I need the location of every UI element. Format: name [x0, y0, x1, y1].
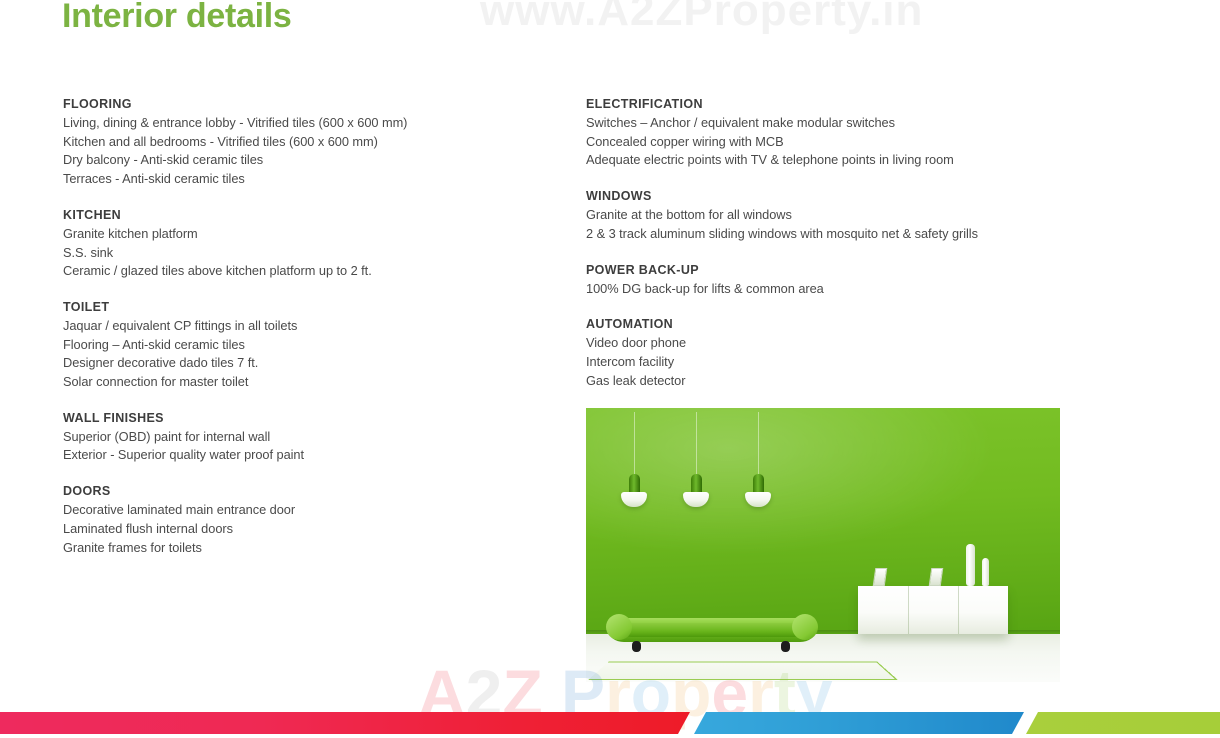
spec-line: Granite at the bottom for all windows	[586, 206, 1106, 225]
spec-line: Granite frames for toilets	[63, 539, 563, 558]
sideboard-icon	[858, 586, 1008, 634]
spec-section: AUTOMATIONVideo door phoneIntercom facil…	[586, 316, 1106, 390]
spec-heading: WINDOWS	[586, 188, 1106, 205]
spec-line: Video door phone	[586, 334, 1106, 353]
spec-heading: ELECTRIFICATION	[586, 96, 1106, 113]
lamp-neck	[753, 474, 764, 494]
picture-frame-icon	[873, 568, 888, 586]
spec-line: 2 & 3 track aluminum sliding windows wit…	[586, 225, 1106, 244]
sideboard-divider	[908, 586, 909, 634]
spec-heading: FLOORING	[63, 96, 563, 113]
sofa-wheel-right	[781, 641, 790, 652]
spec-line: Switches – Anchor / equivalent make modu…	[586, 114, 1106, 133]
spec-section: POWER BACK-UP100% DG back-up for lifts &…	[586, 262, 1106, 299]
spec-heading: DOORS	[63, 483, 563, 500]
brochure-page: www.A2ZProperty.in Interior details FLOO…	[0, 0, 1220, 738]
lamp-neck	[691, 474, 702, 494]
spec-line: Solar connection for master toilet	[63, 373, 563, 392]
page-title: Interior details	[62, 0, 291, 36]
sofa-wheel-left	[632, 641, 641, 652]
spec-line: Exterior - Superior quality water proof …	[63, 446, 563, 465]
vase-short-icon	[982, 558, 989, 586]
lamp-neck	[629, 474, 640, 494]
interior-photo	[586, 408, 1060, 682]
spec-section: WINDOWSGranite at the bottom for all win…	[586, 188, 1106, 243]
spec-line: 100% DG back-up for lifts & common area	[586, 280, 1106, 299]
spec-section: ELECTRIFICATIONSwitches – Anchor / equiv…	[586, 96, 1106, 170]
spec-line: Adequate electric points with TV & telep…	[586, 151, 1106, 170]
spec-line: Living, dining & entrance lobby - Vitrif…	[63, 114, 563, 133]
sofa-seat	[622, 623, 804, 637]
bar-segment-blue	[694, 712, 1024, 734]
spec-section: WALL FINISHESSuperior (OBD) paint for in…	[63, 410, 563, 465]
bar-segment-green	[1026, 712, 1220, 734]
spec-heading: TOILET	[63, 299, 563, 316]
spec-heading: AUTOMATION	[586, 316, 1106, 333]
spec-line: Intercom facility	[586, 353, 1106, 372]
spec-line: Dry balcony - Anti-skid ceramic tiles	[63, 151, 563, 170]
spec-line: Superior (OBD) paint for internal wall	[63, 428, 563, 447]
spec-line: Kitchen and all bedrooms - Vitrified til…	[63, 133, 563, 152]
spec-heading: KITCHEN	[63, 207, 563, 224]
spec-line: Ceramic / glazed tiles above kitchen pla…	[63, 262, 563, 281]
picture-frame-icon	[929, 568, 944, 586]
specs-column-left: FLOORINGLiving, dining & entrance lobby …	[63, 96, 563, 557]
lamp-cord	[696, 412, 697, 474]
spec-line: S.S. sink	[63, 244, 563, 263]
sofa-arm-left	[606, 614, 632, 640]
spec-line: Concealed copper wiring with MCB	[586, 133, 1106, 152]
spec-section: FLOORINGLiving, dining & entrance lobby …	[63, 96, 563, 189]
spec-line: Gas leak detector	[586, 372, 1106, 391]
sideboard-divider	[958, 586, 959, 634]
spec-heading: WALL FINISHES	[63, 410, 563, 427]
lamp-cord	[758, 412, 759, 474]
spec-line: Jaquar / equivalent CP fittings in all t…	[63, 317, 563, 336]
spec-line: Decorative laminated main entrance door	[63, 501, 563, 520]
spec-line: Granite kitchen platform	[63, 225, 563, 244]
spec-section: DOORSDecorative laminated main entrance …	[63, 483, 563, 557]
bar-segment-pink	[0, 712, 690, 734]
spec-line: Terraces - Anti-skid ceramic tiles	[63, 170, 563, 189]
spec-section: TOILETJaquar / equivalent CP fittings in…	[63, 299, 563, 392]
watermark-top: www.A2ZProperty.in	[480, 0, 923, 36]
bottom-color-bar	[0, 712, 1220, 734]
spec-line: Laminated flush internal doors	[63, 520, 563, 539]
spec-heading: POWER BACK-UP	[586, 262, 1106, 279]
sofa-arm-right	[792, 614, 818, 640]
lamp-cord	[634, 412, 635, 474]
sofa-icon	[608, 614, 816, 644]
vase-tall-icon	[966, 544, 975, 586]
spec-line: Flooring – Anti-skid ceramic tiles	[63, 336, 563, 355]
spec-line: Designer decorative dado tiles 7 ft.	[63, 354, 563, 373]
specs-column-right: ELECTRIFICATIONSwitches – Anchor / equiv…	[586, 96, 1106, 390]
spec-section: KITCHENGranite kitchen platformS.S. sink…	[63, 207, 563, 281]
